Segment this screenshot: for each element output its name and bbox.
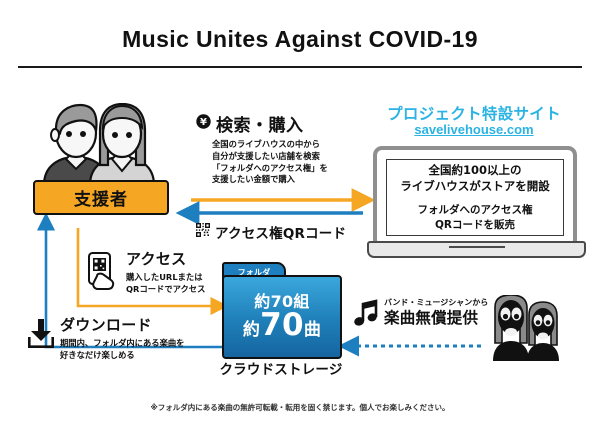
- download-section: ダウンロード 期間内、フォルダ内にある楽曲を 好きなだけ楽しめる: [28, 318, 184, 361]
- songs-prefix: 約: [243, 322, 260, 340]
- music-note-icon: [354, 299, 378, 332]
- qr-access-right-label: アクセス権QRコード: [215, 222, 346, 242]
- qr-access-right-label-row: アクセス権QRコード: [196, 222, 346, 242]
- folder-songs-count: 約 70 曲: [243, 310, 321, 341]
- two-musicians-icon: [487, 295, 565, 361]
- screen-line-1: 全国約100以上の ライブハウスがストアを開設: [400, 163, 550, 194]
- songs-number: 70: [260, 310, 304, 341]
- two-people-icon: [38, 103, 160, 185]
- search-purchase-body: 全国のライブハウスの中から 自分が支援したい店舗を検索 「フォルダへのアクセス権…: [212, 139, 366, 186]
- cloud-storage-caption: クラウドストレージ: [208, 358, 354, 378]
- download-body: 期間内、フォルダ内にある楽曲を 好きなだけ楽しめる: [60, 337, 184, 361]
- folder-body: 約70組 約 70 曲: [222, 275, 342, 359]
- songs-suffix: 曲: [304, 322, 321, 340]
- download-heading: ダウンロード: [60, 318, 184, 333]
- svg-text:¥: ¥: [200, 117, 207, 128]
- smartphone-qr-scan-icon: [86, 252, 120, 297]
- laptop-icon: 全国約100以上の ライブハウスがストアを開設 フォルダへのアクセス権 QRコー…: [367, 146, 582, 256]
- yen-coin-icon: ¥: [196, 114, 211, 134]
- project-site-heading: プロジェクト特設サイト: [358, 102, 590, 124]
- access-heading: アクセス: [126, 252, 205, 267]
- page-title: Music Unites Against COVID-19: [0, 26, 600, 53]
- download-arrow-icon: [28, 318, 54, 353]
- musicians-big-label: 楽曲無償提供: [384, 310, 488, 328]
- infographic-canvas: Music Unites Against COVID-19: [0, 0, 600, 426]
- access-body: 購入したURLまたは QRコードでアクセス: [126, 271, 205, 295]
- search-purchase-heading: 検索・購入: [216, 111, 304, 136]
- search-purchase-section: ¥ 検索・購入 全国のライブハウスの中から 自分が支援したい店舗を検索 「フォル…: [196, 111, 366, 186]
- qr-code-icon: [196, 223, 210, 242]
- musicians-small-label: バンド・ミュージシャンから: [384, 299, 488, 308]
- laptop-lid: 全国約100以上の ライブハウスがストアを開設 フォルダへのアクセス権 QRコー…: [373, 146, 577, 249]
- footer-note: ※フォルダ内にある楽曲の無許可転載・転用を固く禁じます。個人でお楽しみください。: [0, 402, 600, 413]
- screen-line-2: フォルダへのアクセス権 QRコードを販売: [418, 203, 533, 231]
- title-divider: [18, 66, 582, 68]
- musicians-section: バンド・ミュージシャンから 楽曲無償提供: [354, 299, 488, 332]
- laptop-screen: 全国約100以上の ライブハウスがストアを開設 フォルダへのアクセス権 QRコー…: [386, 159, 564, 236]
- laptop-base: [367, 241, 586, 258]
- cloud-folder-icon: フォルダ 約70組 約 70 曲: [222, 262, 338, 355]
- access-section: アクセス 購入したURLまたは QRコードでアクセス: [86, 252, 205, 297]
- project-site-url[interactable]: savelivehouse.com: [358, 122, 590, 137]
- supporter-badge: 支援者: [33, 180, 169, 215]
- laptop-trackpad-notch: [449, 246, 505, 248]
